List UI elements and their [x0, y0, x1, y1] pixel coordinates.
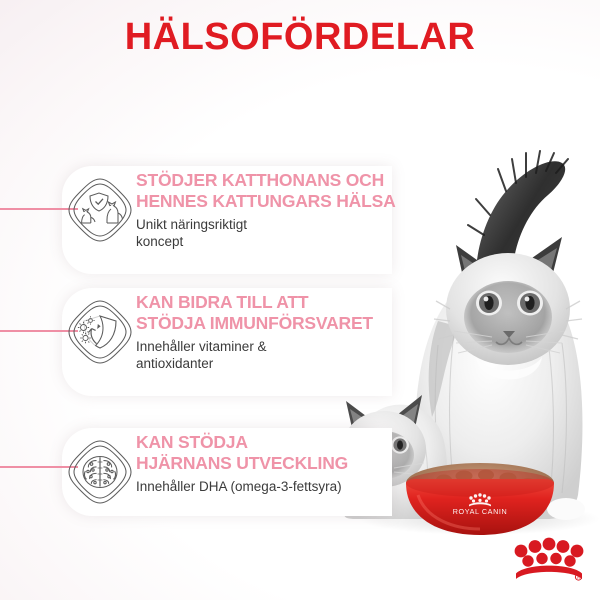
- benefit-text-3: KAN STÖDJA HJÄRNANS UTVECKLING Innehålle…: [136, 432, 396, 495]
- benefit-headline-1: STÖDJER KATTHONANS OCH HENNES KATTUNGARS…: [136, 170, 396, 212]
- royal-canin-crown-logo: R: [512, 532, 586, 584]
- benefit-subtext-1: Unikt näringsriktigt koncept: [136, 216, 396, 250]
- benefit-text-2: KAN BIDRA TILL ATT STÖDJA IMMUNFÖRSVARET…: [136, 292, 396, 372]
- page-title: HÄLSOFÖRDELAR: [0, 18, 600, 56]
- benefit-headline-2: KAN BIDRA TILL ATT STÖDJA IMMUNFÖRSVARET: [136, 292, 396, 334]
- registered-mark: R: [577, 576, 580, 580]
- benefit-text-1: STÖDJER KATTHONANS OCH HENNES KATTUNGARS…: [136, 170, 396, 250]
- svg-text:ROYAL CANIN: ROYAL CANIN: [453, 507, 508, 516]
- health-benefits-infographic: HÄLSOFÖRDELAR: [0, 0, 600, 600]
- benefit-subtext-3: Innehåller DHA (omega-3-fettsyra): [136, 478, 396, 495]
- benefit-subtext-2: Innehåller vitaminer & antioxidanter: [136, 338, 396, 372]
- benefit-headline-3: KAN STÖDJA HJÄRNANS UTVECKLING: [136, 432, 396, 474]
- shield-immunity-icon: [66, 298, 134, 366]
- brain-icon: [66, 438, 134, 506]
- cat-and-kitten-shield-icon: [66, 176, 134, 244]
